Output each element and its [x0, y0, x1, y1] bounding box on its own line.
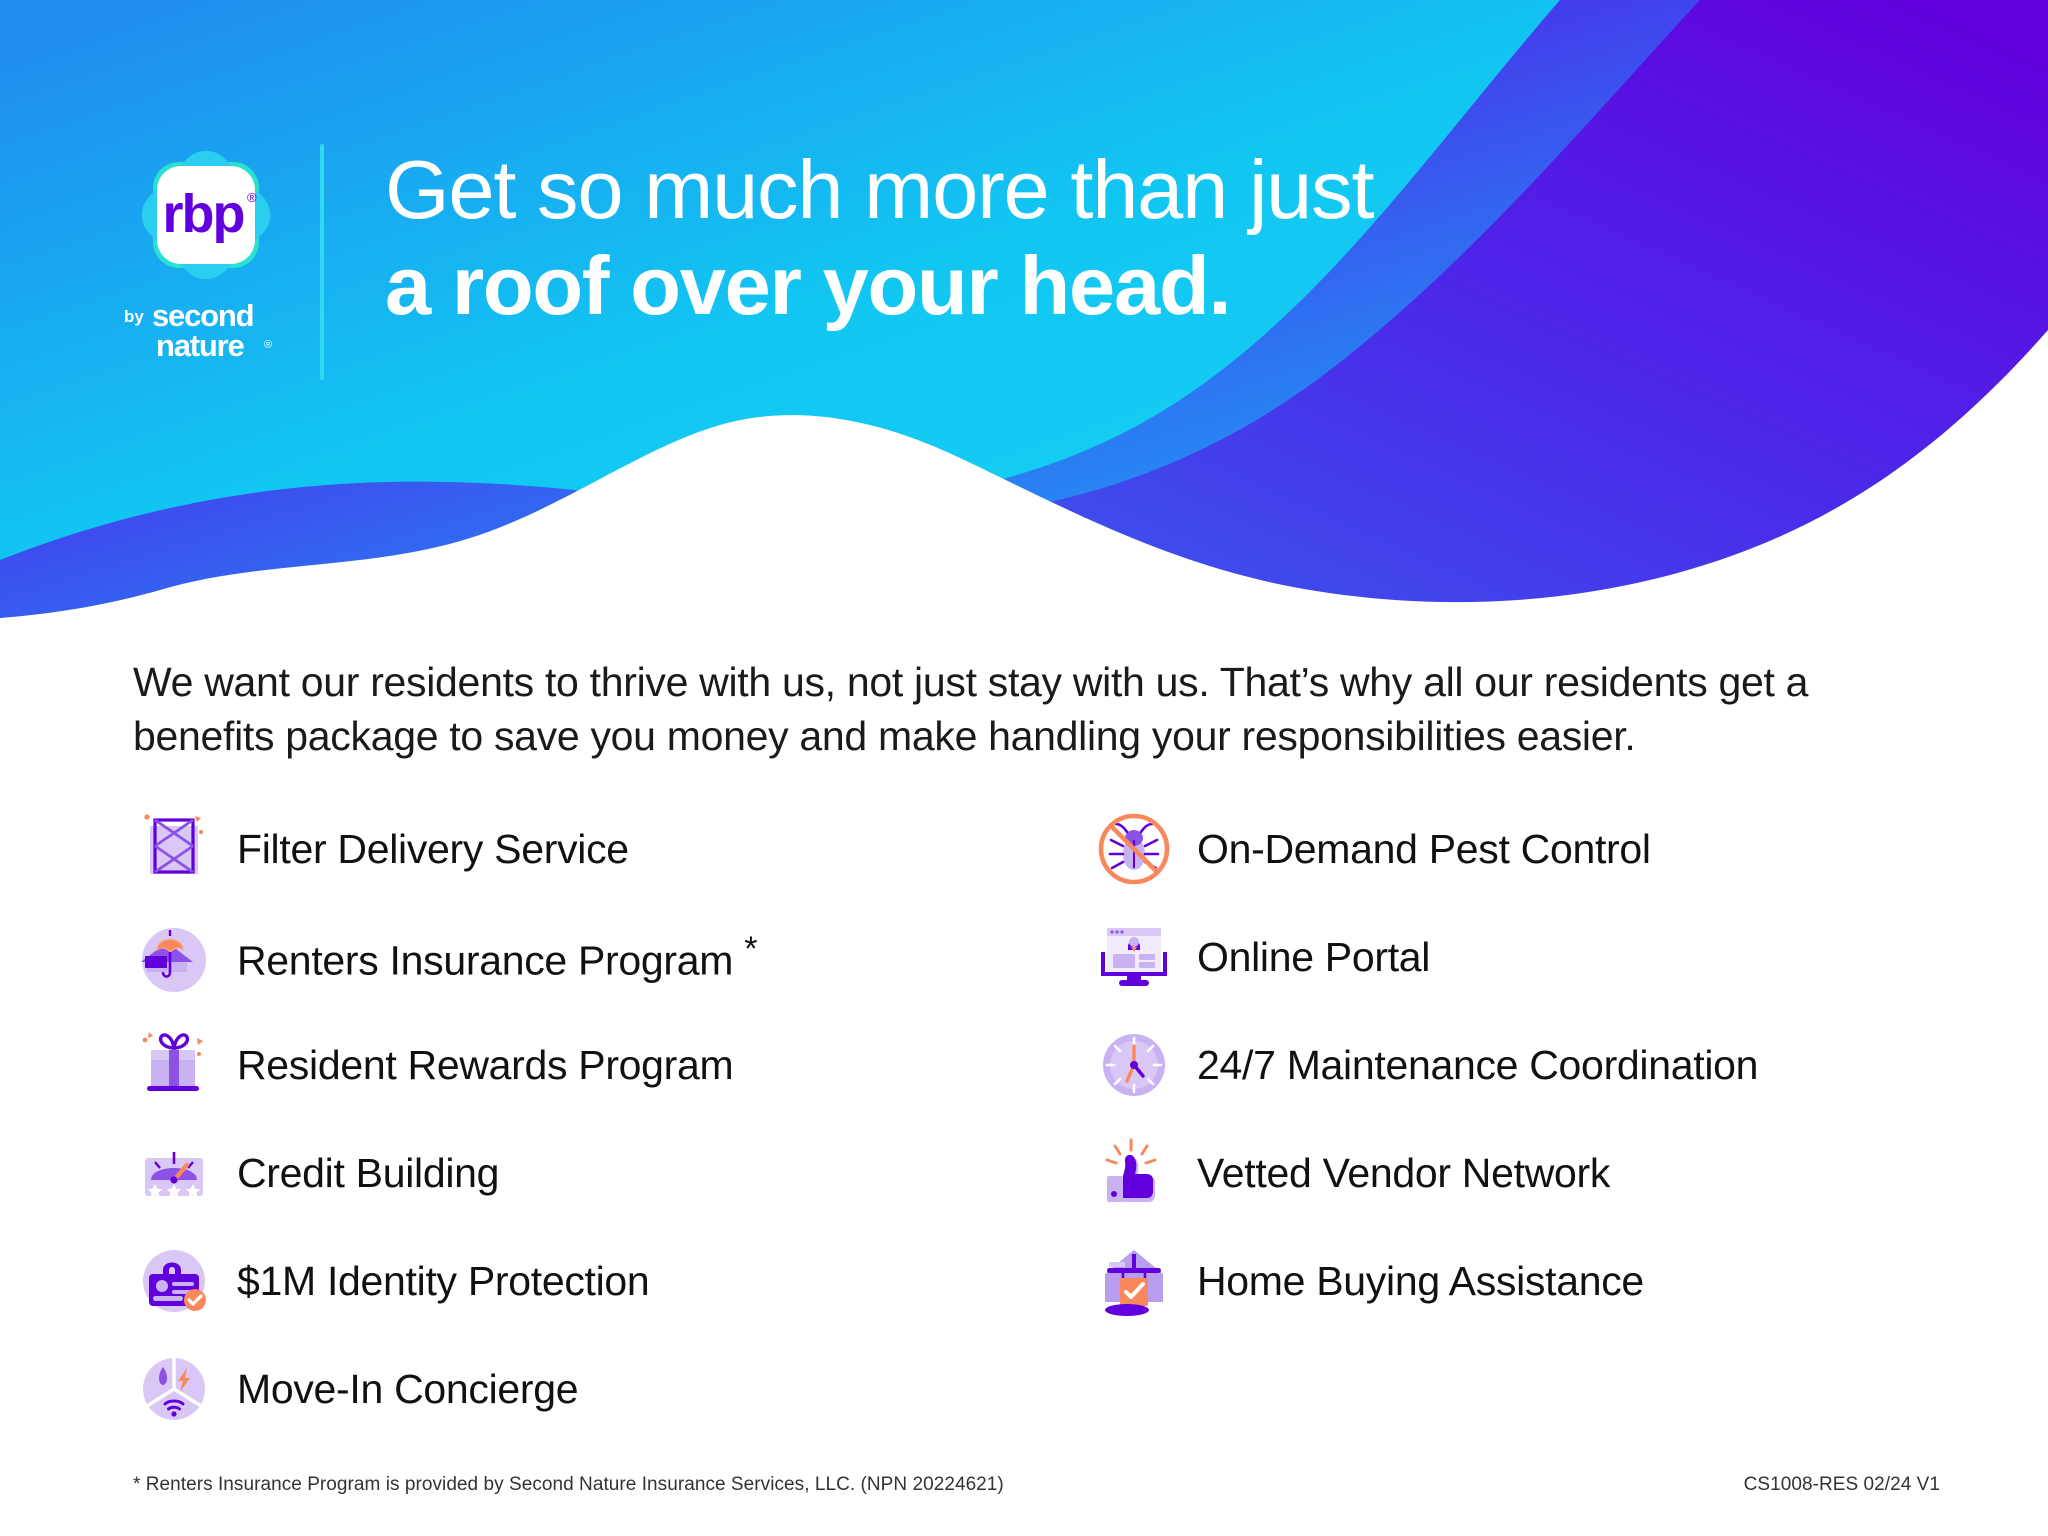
svg-text:®: ®: [264, 339, 272, 351]
benefits-list: Filter Delivery Service Renters Insu: [133, 795, 1933, 1443]
benefit-identity-protection[interactable]: $1M Identity Protection: [133, 1227, 1093, 1335]
benefit-maintenance-coordination[interactable]: 24/7 Maintenance Coordination: [1093, 1011, 1933, 1119]
benefit-label: On-Demand Pest Control: [1197, 826, 1651, 873]
rbp-logo: rbp ® by second nature ®: [108, 140, 303, 380]
second-nature-wordmark: by second nature ®: [118, 296, 293, 364]
utilities-water-power-wifi-icon: [133, 1348, 215, 1430]
svg-text:by: by: [124, 307, 144, 326]
headline-line-2: a roof over your head.: [385, 242, 1565, 330]
footnote-asterisk: *: [744, 930, 757, 968]
footer-disclaimer: * Renters Insurance Program is provided …: [133, 1474, 1004, 1496]
benefit-on-demand-pest-control[interactable]: On-Demand Pest Control: [1093, 795, 1933, 903]
benefit-label: Renters Insurance Program *: [237, 930, 757, 985]
benefit-move-in-concierge[interactable]: Move-In Concierge: [133, 1335, 1093, 1443]
hero-banner: rbp ® by second nature ® Get so much mor…: [0, 0, 2048, 620]
benefit-label: 24/7 Maintenance Coordination: [1197, 1042, 1758, 1089]
benefit-label: Filter Delivery Service: [237, 826, 629, 873]
benefit-renters-insurance-program[interactable]: Renters Insurance Program *: [133, 903, 1093, 1011]
credit-gauge-icon: [133, 1132, 215, 1214]
thumbs-up-icon: [1093, 1132, 1175, 1214]
svg-text:rbp: rbp: [162, 184, 243, 244]
benefit-home-buying-assistance[interactable]: Home Buying Assistance: [1093, 1227, 1933, 1335]
hero-divider: [320, 144, 324, 380]
benefit-vetted-vendor-network[interactable]: Vetted Vendor Network: [1093, 1119, 1933, 1227]
headline-line-1: Get so much more than just: [385, 146, 1565, 234]
benefits-left-column: Filter Delivery Service Renters Insu: [133, 795, 1093, 1443]
svg-text:nature: nature: [156, 328, 245, 363]
hero-headline: Get so much more than just a roof over y…: [385, 146, 1565, 330]
gift-box-icon: [133, 1024, 215, 1106]
desktop-portal-icon: [1093, 916, 1175, 998]
air-filter-icon: [133, 808, 215, 890]
footer-document-code: CS1008-RES 02/24 V1: [1744, 1474, 1940, 1496]
id-badge-lock-icon: [133, 1240, 215, 1322]
benefit-label: Resident Rewards Program: [237, 1042, 733, 1089]
benefits-right-column: On-Demand Pest Control: [1093, 795, 1933, 1443]
benefit-credit-building[interactable]: Credit Building: [133, 1119, 1093, 1227]
benefit-label: Online Portal: [1197, 934, 1430, 981]
benefit-label: Move-In Concierge: [237, 1366, 578, 1413]
home-sign-check-icon: [1093, 1240, 1175, 1322]
benefit-filter-delivery-service[interactable]: Filter Delivery Service: [133, 795, 1093, 903]
intro-paragraph: We want our residents to thrive with us,…: [133, 655, 1923, 763]
benefit-resident-rewards-program[interactable]: Resident Rewards Program: [133, 1011, 1093, 1119]
benefit-label: $1M Identity Protection: [237, 1258, 649, 1305]
clock-icon: [1093, 1024, 1175, 1106]
no-bug-icon: [1093, 808, 1175, 890]
benefit-label: Credit Building: [237, 1150, 499, 1197]
svg-text:®: ®: [247, 190, 257, 205]
benefit-label: Vetted Vendor Network: [1197, 1150, 1610, 1197]
benefit-online-portal[interactable]: Online Portal: [1093, 903, 1933, 1011]
benefit-label: Home Buying Assistance: [1197, 1258, 1644, 1305]
rbp-logo-mark-icon: rbp ®: [131, 140, 281, 290]
umbrella-house-icon: [133, 916, 215, 998]
